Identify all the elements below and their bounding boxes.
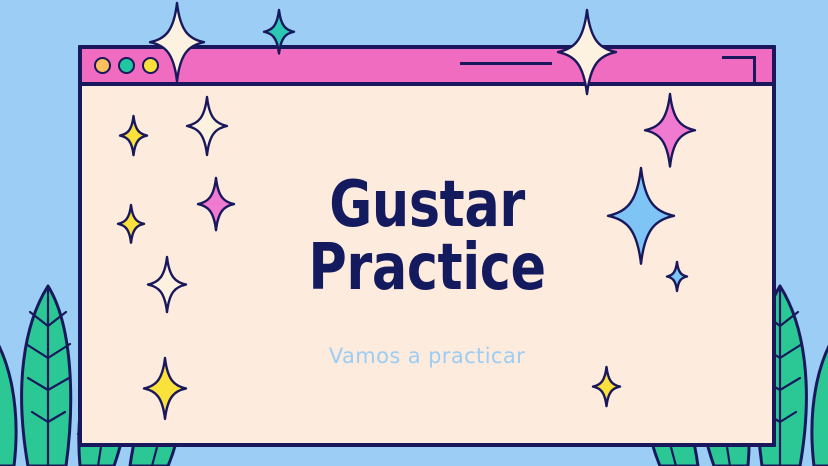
window-traffic-lights bbox=[94, 57, 159, 74]
close-dot[interactable] bbox=[94, 57, 111, 74]
page-subtitle: Vamos a practicar bbox=[82, 344, 772, 368]
window-content: Gustar Practice Vamos a practicar bbox=[82, 86, 772, 447]
slide-canvas: Gustar Practice Vamos a practicar bbox=[0, 0, 828, 466]
page-title: Gustar Practice bbox=[144, 174, 710, 299]
minimize-dot[interactable] bbox=[118, 57, 135, 74]
zoom-dot[interactable] bbox=[142, 57, 159, 74]
window-titlebar bbox=[82, 49, 772, 86]
minimize-icon[interactable] bbox=[460, 62, 552, 65]
app-window: Gustar Practice Vamos a practicar bbox=[78, 45, 776, 447]
maximize-icon[interactable] bbox=[722, 56, 756, 84]
